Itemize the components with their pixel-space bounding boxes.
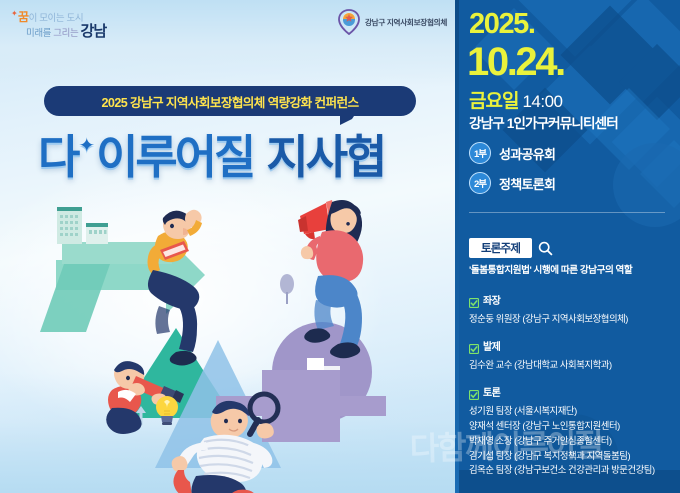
topic-text: '돌봄통합지원법' 시행에 따른 강남구의 역할 xyxy=(469,262,674,276)
section-chair: 좌장 정순둥 위원장 (강남구 지역사회보장협의체) xyxy=(469,292,677,327)
ribbon-label: 2025 강남구 지역사회보장협의체 역량강화 컨퍼런스 xyxy=(102,92,359,111)
lightbulb-icon xyxy=(156,396,178,425)
logo-word-gangnam: 강남 xyxy=(81,23,107,40)
right-info-panel: 2025. 10.24. 금요일 14:00 강남구 1인가구커뮤니티센터 1부… xyxy=(455,0,680,493)
check-box-icon xyxy=(469,387,479,397)
panelist-row-3: 박재영 소장 (강남구 주거안심종합센터) xyxy=(469,434,677,449)
section-panelists: 토론 성기원 팀장 (서울시복지재단) 양재석 센터장 (강남구 노인통합지원센… xyxy=(469,384,677,478)
part-label-1: 성과공유회 xyxy=(499,144,555,163)
magnifier-icon xyxy=(538,241,553,256)
gangnam-city-logo: ✦ 꿈이 모이는 도시 미래를 그리는 강남 xyxy=(10,8,128,40)
part-badge-2: 2부 xyxy=(469,172,491,194)
part-label-2: 정책토론회 xyxy=(499,174,555,193)
section-presenter: 발제 김수완 교수 (강남대학교 사회복지학과) xyxy=(469,338,677,373)
panelist-row-1: 성기원 팀장 (서울시복지재단) xyxy=(469,404,677,419)
topic-badge: 토론주제 xyxy=(469,238,532,258)
event-venue: 강남구 1인가구커뮤니티센터 xyxy=(469,112,618,132)
left-panel: ✦ 꿈이 모이는 도시 미래를 그리는 강남 강남구 지역사회보장협의체 202… xyxy=(0,0,455,493)
panelist-row-4: 김기섭 팀장 (강남구 복지정책과 지역돌봄팀) xyxy=(469,449,677,464)
panel-divider xyxy=(469,212,665,213)
program-part-2: 2부 정책토론회 xyxy=(469,172,555,194)
title-part-1: 다 xyxy=(38,121,77,187)
page-title: 다 ✦ 이루어질 지사협 xyxy=(38,126,438,182)
check-box-icon xyxy=(469,295,479,305)
council-logo-label: 강남구 지역사회보장협의체 xyxy=(365,17,447,28)
panelist-row-5: 김옥순 팀장 (강남구보건소 건강관리과 방문건강팀) xyxy=(469,463,677,478)
presenter-row-1: 김수완 교수 (강남대학교 사회복지학과) xyxy=(469,358,677,373)
check-box-icon xyxy=(469,341,479,351)
event-month-day: 10.24. xyxy=(467,42,564,82)
title-part-2: 이루어질 xyxy=(96,121,253,187)
section-panelists-title: 토론 xyxy=(483,384,500,399)
panelist-row-2: 양재석 센터장 (강남구 노인통합지원센터) xyxy=(469,419,677,434)
star-sparkle-icon: ✦ xyxy=(11,9,18,18)
event-day-time-row: 금요일 14:00 xyxy=(469,86,563,113)
event-year: 2025. xyxy=(469,10,535,39)
location-pin-logo-icon xyxy=(338,9,360,35)
tree-shape xyxy=(280,274,294,304)
section-chair-title: 좌장 xyxy=(483,292,500,307)
program-parts-list: 1부 성과공유회 2부 정책토론회 xyxy=(469,142,555,202)
part-badge-1: 1부 xyxy=(469,142,491,164)
council-logo: 강남구 지역사회보장협의체 xyxy=(338,8,447,36)
title-part-3: 지사협 xyxy=(266,121,384,187)
teal-buildings-shape xyxy=(57,207,108,244)
conference-ribbon-banner: 2025 강남구 지역사회보장협의체 역량강화 컨퍼런스 xyxy=(44,86,416,116)
chair-row-1: 정순둥 위원장 (강남구 지역사회보장협의체) xyxy=(469,312,677,327)
event-time: 14:00 xyxy=(522,92,562,112)
logo-word-future: 미래를 xyxy=(26,28,51,39)
poster-canvas: ✦ 꿈이 모이는 도시 미래를 그리는 강남 강남구 지역사회보장협의체 202… xyxy=(0,0,680,493)
section-panelists-header: 토론 xyxy=(469,384,677,399)
section-presenter-header: 발제 xyxy=(469,338,677,353)
section-presenter-title: 발제 xyxy=(483,338,500,353)
program-part-1: 1부 성과공유회 xyxy=(469,142,555,164)
section-chair-header: 좌장 xyxy=(469,292,677,307)
illustration-svg xyxy=(0,180,455,493)
logo-line-2: 미래를 그리는 강남 xyxy=(26,20,106,41)
illustration-group xyxy=(0,180,455,493)
event-weekday: 금요일 xyxy=(469,86,518,113)
logo-word-draw: 그리는 xyxy=(51,28,81,39)
topic-badge-row: 토론주제 xyxy=(469,238,553,258)
title-star-icon: ✦ xyxy=(77,133,96,158)
